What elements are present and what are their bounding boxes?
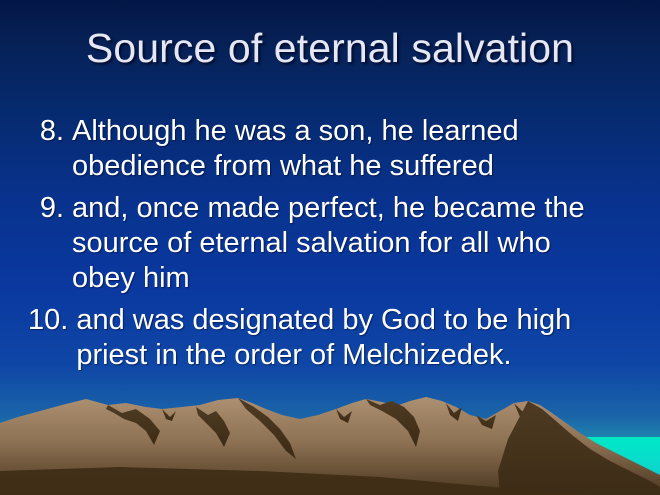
title-block: Source of eternal salvation xyxy=(0,26,660,71)
numbered-bullet-list: 8. Although he was a son, he learned obe… xyxy=(28,114,632,380)
mountain-range-svg xyxy=(0,375,660,495)
list-item: 10. and was designated by God to be high… xyxy=(28,303,632,373)
list-item-text: and was designated by God to be high pri… xyxy=(76,303,604,373)
list-item-text: and, once made perfect, he became the so… xyxy=(72,191,600,296)
list-item-text: Although he was a son, he learned obedie… xyxy=(72,114,600,184)
list-item-number: 8. xyxy=(28,114,72,149)
list-item: 8. Although he was a son, he learned obe… xyxy=(28,114,632,184)
mountain-range-graphic xyxy=(0,375,660,495)
list-item-number: 9. xyxy=(28,191,72,226)
presentation-slide: Source of eternal salvation 8. Although … xyxy=(0,0,660,495)
list-item: 9. and, once made perfect, he became the… xyxy=(28,191,632,296)
page-title: Source of eternal salvation xyxy=(86,26,574,71)
list-item-number: 10. xyxy=(28,303,76,338)
